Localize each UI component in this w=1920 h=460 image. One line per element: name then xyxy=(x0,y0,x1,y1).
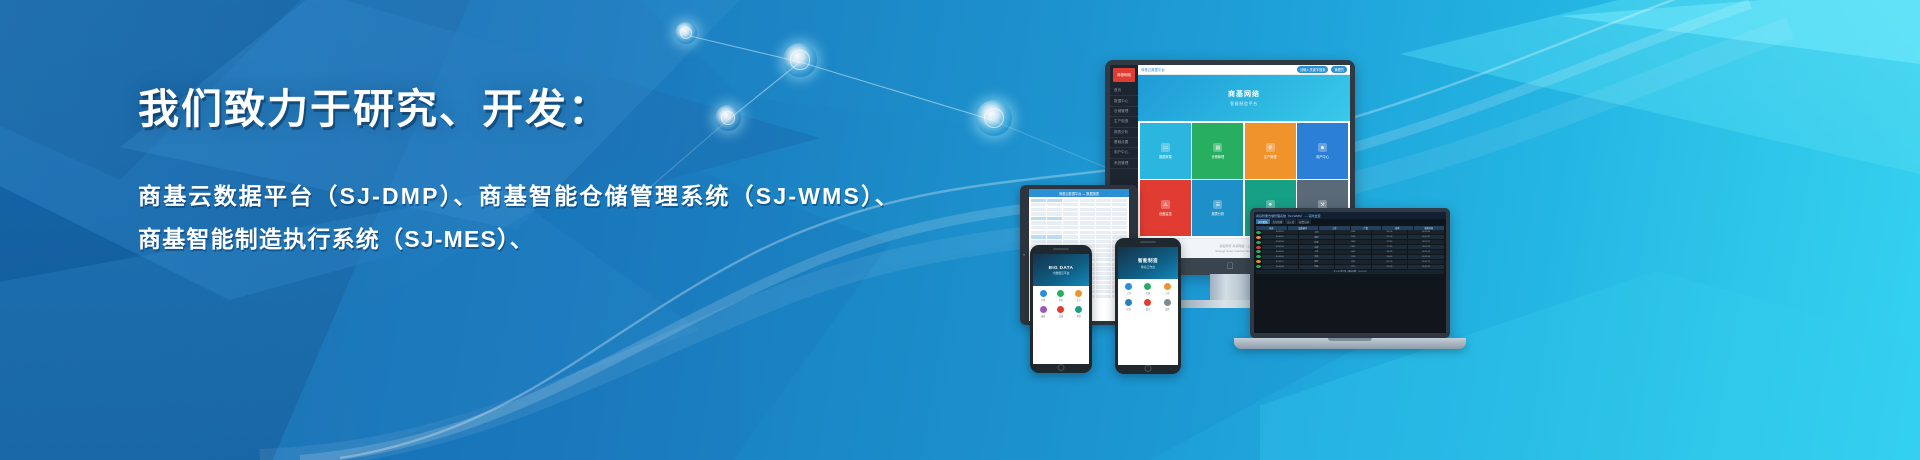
phone-app-label: 扫码 xyxy=(1146,291,1150,295)
sidebar-item[interactable]: 系统管理 xyxy=(1110,159,1138,169)
dashboard-topbar: 商基云数据平台 请输入关键字搜索 管理员 xyxy=(1138,65,1350,75)
table-row xyxy=(1031,212,1128,215)
dashboard-tile-label: 仓储管理 xyxy=(1211,154,1224,159)
phone-app-item[interactable]: 出库 xyxy=(1120,298,1138,313)
user-menu[interactable]: 管理员 xyxy=(1331,66,1347,73)
table-cell: 装配 xyxy=(1299,235,1335,239)
doc-icon: ☰ xyxy=(1213,200,1222,209)
table-cell: 1218 xyxy=(1335,255,1371,259)
phone-hero-subtitle: 移动工作台 xyxy=(1141,265,1155,269)
product-list: 商基云数据平台（SJ-DMP）、商基智能仓储管理系统（SJ-WMS）、 商基智能… xyxy=(138,175,900,260)
table-cell: 1096 xyxy=(1335,260,1371,264)
phone-app-item[interactable]: 我的 xyxy=(1071,305,1087,320)
phone-home-button[interactable] xyxy=(1058,364,1065,371)
table-cell xyxy=(1096,295,1111,298)
table-row xyxy=(1031,203,1128,206)
table-cell xyxy=(1080,203,1095,206)
table-cell: 09:12:15 xyxy=(1408,245,1444,249)
phone-mockup-left: BIG DATA 大数据云平台 订单库存生产报表设备我的 xyxy=(1030,245,1092,373)
table-row[interactable]: SJ-0105入库140298.3%09:12:19 xyxy=(1256,250,1444,254)
hero-title: 商基网络 xyxy=(1228,89,1260,99)
table-cell: 码垛 xyxy=(1299,265,1335,269)
table-cell xyxy=(1112,199,1127,202)
table-cell: 09:12:19 xyxy=(1408,250,1444,254)
phone-hero-subtitle: 大数据云平台 xyxy=(1053,271,1070,275)
table-cell xyxy=(1031,199,1046,202)
status-dot-icon xyxy=(1256,231,1261,234)
table-cell: SJ-0106 xyxy=(1262,255,1298,259)
table-cell xyxy=(1031,203,1046,206)
table-cell xyxy=(1080,212,1095,215)
table-cell: 09:12:07 xyxy=(1408,235,1444,239)
phone-hero-left: BIG DATA 大数据云平台 xyxy=(1033,254,1089,286)
table-cell: 92.1% xyxy=(1372,235,1408,239)
banner-copy: 我们致力于研究、开发： 商基云数据平台（SJ-DMP）、商基智能仓储管理系统（S… xyxy=(138,86,900,260)
table-row xyxy=(1031,217,1128,220)
phone-app-label: 盘点 xyxy=(1146,307,1150,311)
status-dot-icon xyxy=(1256,250,1261,253)
table-cell xyxy=(1047,221,1062,224)
phone-app-label: 生产 xyxy=(1077,298,1081,302)
dashboard-tile-label: 数据采集 xyxy=(1159,154,1172,159)
dashboard-tile[interactable]: ⚠设备监控 xyxy=(1140,180,1191,236)
laptop-mockup: 商基智能仓储管理系统（SJ-WMS） — 实时监控 实时看板库位管理出入库报警记… xyxy=(1250,208,1450,338)
table-cell xyxy=(1031,240,1046,243)
table-cell xyxy=(1096,263,1111,266)
table-cell xyxy=(1096,226,1111,229)
table-cell xyxy=(1096,267,1111,270)
table-cell xyxy=(1063,226,1078,229)
app-icon xyxy=(1125,283,1132,290)
dashboard-tile[interactable]: ▤仓储管理 xyxy=(1192,123,1243,179)
app-icon xyxy=(1057,306,1064,313)
table-cell xyxy=(1096,231,1111,234)
page-title: 我们致力于研究、开发： xyxy=(138,86,900,133)
status-dot-icon xyxy=(1256,241,1261,244)
table-cell xyxy=(1080,231,1095,234)
dashboard-tile-label: 生产管理 xyxy=(1264,154,1277,159)
table-cell: 1340 xyxy=(1335,240,1371,244)
table-cell xyxy=(1031,235,1046,238)
sidebar-item[interactable]: 用户中心 xyxy=(1110,148,1138,158)
table-cell xyxy=(1096,285,1111,288)
topbar-right: 请输入关键字搜索 管理员 xyxy=(1297,66,1347,73)
phone-app-label: 工单 xyxy=(1127,291,1131,295)
user-icon: ☻ xyxy=(1318,143,1327,152)
table-row xyxy=(1031,231,1128,234)
table-row[interactable]: SJ-0101上料128096.5%09:12:04 xyxy=(1256,230,1444,234)
table-row xyxy=(1031,235,1128,238)
dashboard-tile-label: 设备监控 xyxy=(1159,211,1172,216)
table-cell: 98.3% xyxy=(1372,250,1408,254)
table-cell: 1402 xyxy=(1335,250,1371,254)
table-cell: 09:12:27 xyxy=(1408,260,1444,264)
table-cell xyxy=(1063,221,1078,224)
hero-subtitle: 智能制造平台 xyxy=(1230,101,1258,107)
status-dot-icon xyxy=(1256,260,1261,263)
sidebar-item[interactable]: 仓储管理 xyxy=(1110,107,1138,117)
table-cell xyxy=(1031,208,1046,211)
alert-icon: ⚠ xyxy=(1161,200,1170,209)
table-cell: SJ-0108 xyxy=(1262,265,1298,269)
network-node xyxy=(783,43,817,77)
table-cell xyxy=(1031,226,1046,229)
phone-app-item[interactable]: 扫码 xyxy=(1139,281,1157,296)
table-cell xyxy=(1096,208,1111,211)
table-row xyxy=(1031,226,1128,229)
brand-logo: 商基网络 xyxy=(1113,68,1135,82)
tablet-camera-icon xyxy=(1023,254,1025,256)
product-line: 商基智能制造执行系统（SJ-MES）、 xyxy=(138,218,900,261)
table-cell: 09:12:31 xyxy=(1408,265,1444,269)
phone-app-label: 订单 xyxy=(1041,298,1045,302)
table-cell xyxy=(1080,199,1095,202)
table-cell: 复检 xyxy=(1299,260,1335,264)
dashboard-tile[interactable]: ☻用户中心 xyxy=(1297,123,1348,179)
app-icon xyxy=(1144,299,1151,306)
status-dot-icon xyxy=(1256,236,1261,239)
table-cell xyxy=(1063,208,1078,211)
table-cell: 09:12:23 xyxy=(1408,255,1444,259)
table-cell xyxy=(1047,217,1062,220)
status-dot-icon xyxy=(1256,255,1261,258)
device-mockup-cluster: 商基网络 首页 数据中心 仓储管理 生产制造 报表分析 基础设置 用户中心 系统… xyxy=(1010,30,1510,450)
phone-app-grid-left: 订单库存生产报表设备我的 xyxy=(1033,286,1089,364)
sidebar-item[interactable]: 首页 xyxy=(1110,86,1138,96)
dashboard-tile[interactable]: ▭数据采集 xyxy=(1140,123,1191,179)
table-cell xyxy=(1047,203,1062,206)
table-cell xyxy=(1096,276,1111,279)
table-cell xyxy=(1063,240,1078,243)
table-cell: SJ-0105 xyxy=(1262,250,1298,254)
table-cell xyxy=(1096,199,1111,202)
table-cell xyxy=(1080,240,1095,243)
status-badge xyxy=(1256,250,1261,254)
tablet-titlebar: 商基云数据平台 — 数据报表 xyxy=(1029,189,1129,197)
sidebar-item[interactable]: 生产制造 xyxy=(1110,117,1138,127)
table-cell xyxy=(1047,235,1062,238)
app-icon xyxy=(1164,299,1171,306)
phone-app-label: 出库 xyxy=(1127,307,1131,311)
table-cell xyxy=(1063,212,1078,215)
monitor-icon: ▭ xyxy=(1161,143,1170,152)
table-cell xyxy=(1047,240,1062,243)
chart-icon: ▤ xyxy=(1213,143,1222,152)
table-cell: 0842 xyxy=(1335,245,1371,249)
table-cell xyxy=(1112,226,1127,229)
phone-app-item[interactable]: 工单 xyxy=(1120,281,1138,296)
table-row[interactable]: SJ-0108码垛127195.6%09:12:31 xyxy=(1256,265,1444,269)
topbar-title: 商基云数据平台 xyxy=(1141,67,1165,72)
table-row xyxy=(1031,221,1128,224)
table-cell xyxy=(1047,208,1062,211)
table-column-header: 工序 xyxy=(1319,226,1350,230)
table-row[interactable]: SJ-0104包装084271.4%09:12:15 xyxy=(1256,245,1444,249)
phone-app-label: 设备 xyxy=(1059,314,1063,318)
table-cell: 上料 xyxy=(1299,230,1335,234)
phone-app-label: 我的 xyxy=(1077,314,1081,318)
table-cell: 89.7% xyxy=(1372,260,1408,264)
phone-speaker-icon xyxy=(1053,248,1069,250)
status-badge xyxy=(1256,265,1261,269)
phone-app-item[interactable]: 生产 xyxy=(1071,288,1087,303)
table-cell: 95.6% xyxy=(1372,265,1408,269)
table-cell: 09:12:11 xyxy=(1408,240,1444,244)
brand-logo-label: 商基网络 xyxy=(1117,73,1131,78)
table-cell xyxy=(1096,253,1111,256)
table-cell xyxy=(1031,221,1046,224)
table-cell xyxy=(1112,221,1127,224)
search-input[interactable]: 请输入关键字搜索 xyxy=(1297,66,1329,73)
table-cell xyxy=(1047,231,1062,234)
table-cell: SJ-0107 xyxy=(1262,260,1298,264)
status-badge xyxy=(1256,245,1261,249)
table-cell xyxy=(1031,212,1046,215)
table-cell xyxy=(1031,231,1046,234)
table-cell xyxy=(1063,217,1078,220)
table-cell xyxy=(1047,226,1062,229)
laptop-base xyxy=(1234,338,1466,349)
phone-speaker-icon xyxy=(1140,241,1156,243)
table-cell xyxy=(1031,217,1046,220)
status-badge xyxy=(1256,230,1261,234)
app-icon xyxy=(1125,299,1132,306)
table-row xyxy=(1031,199,1128,202)
status-badge xyxy=(1256,255,1261,259)
app-icon xyxy=(1075,306,1082,313)
table-cell xyxy=(1096,249,1111,252)
table-cell: 09:12:04 xyxy=(1408,230,1444,234)
table-cell xyxy=(1063,235,1078,238)
hero-banner: 商基网络 首页 数据中心 仓储管理 生产制造 报表分析 基础设置 用户中心 系统… xyxy=(0,0,1920,460)
table-cell xyxy=(1063,199,1078,202)
table-cell: 96.5% xyxy=(1372,230,1408,234)
network-node xyxy=(976,100,1012,136)
phone-mockup-right: 智能制造 移动工作台 工单扫码入库出库盘点设置 xyxy=(1115,238,1181,374)
table-cell: SJ-0102 xyxy=(1262,235,1298,239)
phone-app-label: 入库 xyxy=(1165,291,1169,295)
table-cell xyxy=(1096,235,1111,238)
table-cell: 1165 xyxy=(1335,235,1371,239)
table-cell xyxy=(1112,231,1127,234)
phone-app-item[interactable]: 设置 xyxy=(1158,298,1176,313)
sidebar-item[interactable]: 基础设置 xyxy=(1110,138,1138,148)
table-column-header: 效率 xyxy=(1382,226,1413,230)
table-row xyxy=(1031,208,1128,211)
table-cell xyxy=(1096,281,1111,284)
table-cell: 出库 xyxy=(1299,255,1335,259)
apple-logo-icon:  xyxy=(1227,262,1234,271)
table-cell: SJ-0101 xyxy=(1262,230,1298,234)
table-row[interactable]: SJ-0106出库121894.0%09:12:23 xyxy=(1256,255,1444,259)
table-cell xyxy=(1112,203,1127,206)
table-cell xyxy=(1080,208,1095,211)
table-row[interactable]: SJ-0107复检109689.7%09:12:27 xyxy=(1256,260,1444,264)
table-cell xyxy=(1047,212,1062,215)
phone-app-item[interactable]: 订单 xyxy=(1035,288,1051,303)
table-cell: 1271 xyxy=(1335,265,1371,269)
table-cell xyxy=(1080,235,1095,238)
phone-hero-title: 智能制造 xyxy=(1138,258,1158,264)
phone-app-item[interactable]: 设备 xyxy=(1053,305,1069,320)
table-cell xyxy=(1063,231,1078,234)
table-row xyxy=(1031,240,1128,243)
sidebar-item[interactable]: 报表分析 xyxy=(1110,128,1138,138)
dashboard-tile-label: 报表分析 xyxy=(1211,211,1224,216)
table-cell xyxy=(1047,199,1062,202)
table-cell xyxy=(1096,203,1111,206)
status-dot-icon xyxy=(1256,246,1261,249)
status-text: 共 128 条记录 | 最后刷新：09:12:31 xyxy=(1256,270,1444,274)
imac-stand-neck xyxy=(1210,274,1250,302)
dashboard-tile[interactable]: ☰报表分析 xyxy=(1192,180,1243,236)
status-dot-icon xyxy=(1256,265,1261,268)
table-cell xyxy=(1096,212,1111,215)
table-cell xyxy=(1080,217,1095,220)
table-cell xyxy=(1096,258,1111,261)
table-header-row: 状态设备编号工序产量效率更新时间 xyxy=(1256,226,1444,230)
phone-app-label: 报表 xyxy=(1041,314,1045,318)
table-row[interactable]: SJ-0103检测134097.8%09:12:11 xyxy=(1256,240,1444,244)
app-icon xyxy=(1040,290,1047,297)
table-cell xyxy=(1096,244,1111,247)
table-cell: 包装 xyxy=(1299,245,1335,249)
phone-screen-right: 智能制造 移动工作台 工单扫码入库出库盘点设置 xyxy=(1118,247,1178,365)
app-icon xyxy=(1057,290,1064,297)
table-cell xyxy=(1096,272,1111,275)
table-cell: 94.0% xyxy=(1372,255,1408,259)
status-badge xyxy=(1256,240,1261,244)
table-cell: 71.4% xyxy=(1372,245,1408,249)
phone-app-grid-right: 工单扫码入库出库盘点设置 xyxy=(1118,279,1178,365)
app-icon xyxy=(1040,306,1047,313)
network-node xyxy=(675,22,697,44)
status-badge xyxy=(1256,235,1261,239)
table-cell xyxy=(1080,221,1095,224)
phone-app-label: 库存 xyxy=(1059,298,1063,302)
table-column-header: 更新时间 xyxy=(1414,226,1445,230)
phone-app-item[interactable]: 库存 xyxy=(1053,288,1069,303)
product-line: 商基云数据平台（SJ-DMP）、商基智能仓储管理系统（SJ-WMS）、 xyxy=(138,175,900,218)
dashboard-tile-label: 用户中心 xyxy=(1316,154,1329,159)
table-cell: SJ-0104 xyxy=(1262,245,1298,249)
table-cell: 检测 xyxy=(1299,240,1335,244)
phone-screen-left: BIG DATA 大数据云平台 订单库存生产报表设备我的 xyxy=(1033,254,1089,364)
table-cell xyxy=(1080,226,1095,229)
status-badge xyxy=(1256,260,1261,264)
laptop-titlebar: 商基智能仓储管理系统（SJ-WMS） — 实时监控 xyxy=(1254,212,1446,219)
table-cell xyxy=(1112,208,1127,211)
laptop-lid: 商基智能仓储管理系统（SJ-WMS） — 实时监控 实时看板库位管理出入库报警记… xyxy=(1250,208,1450,338)
table-cell xyxy=(1112,212,1127,215)
table-cell: 97.8% xyxy=(1372,240,1408,244)
table-row[interactable]: SJ-0102装配116592.1%09:12:07 xyxy=(1256,235,1444,239)
laptop-status-bar: 共 128 条记录 | 最后刷新：09:12:31 xyxy=(1256,270,1444,274)
sidebar-item[interactable]: 数据中心 xyxy=(1110,96,1138,106)
app-icon xyxy=(1075,290,1082,297)
phone-app-item[interactable]: 报表 xyxy=(1035,305,1051,320)
table-cell: SJ-0103 xyxy=(1262,240,1298,244)
table-column-header: 状态 xyxy=(1256,226,1287,230)
table-column-header: 产量 xyxy=(1351,226,1382,230)
laptop-screen: 商基智能仓储管理系统（SJ-WMS） — 实时监控 实时看板库位管理出入库报警记… xyxy=(1254,212,1446,333)
gear-icon: ⚙ xyxy=(1266,143,1275,152)
app-icon xyxy=(1164,283,1171,290)
table-column-header: 设备编号 xyxy=(1288,226,1319,230)
dashboard-hero: 商基网络 智能制造平台 xyxy=(1138,75,1350,121)
phone-app-item[interactable]: 盘点 xyxy=(1139,298,1157,313)
table-cell xyxy=(1096,240,1111,243)
table-cell: 入库 xyxy=(1299,250,1335,254)
phone-hero-right: 智能制造 移动工作台 xyxy=(1118,247,1178,279)
app-icon xyxy=(1144,283,1151,290)
table-cell: 1280 xyxy=(1335,230,1371,234)
dashboard-tile[interactable]: ⚙生产管理 xyxy=(1245,123,1296,179)
table-cell xyxy=(1063,203,1078,206)
phone-home-button[interactable] xyxy=(1145,365,1152,372)
table-cell xyxy=(1096,290,1111,293)
phone-app-item[interactable]: 入库 xyxy=(1158,281,1176,296)
phone-app-label: 设置 xyxy=(1165,307,1169,311)
table-cell xyxy=(1096,217,1111,220)
laptop-table: 状态设备编号工序产量效率更新时间SJ-0101上料128096.5%09:12:… xyxy=(1254,224,1446,333)
table-cell xyxy=(1112,217,1127,220)
table-cell xyxy=(1096,221,1111,224)
phone-hero-title: BIG DATA xyxy=(1049,265,1074,270)
